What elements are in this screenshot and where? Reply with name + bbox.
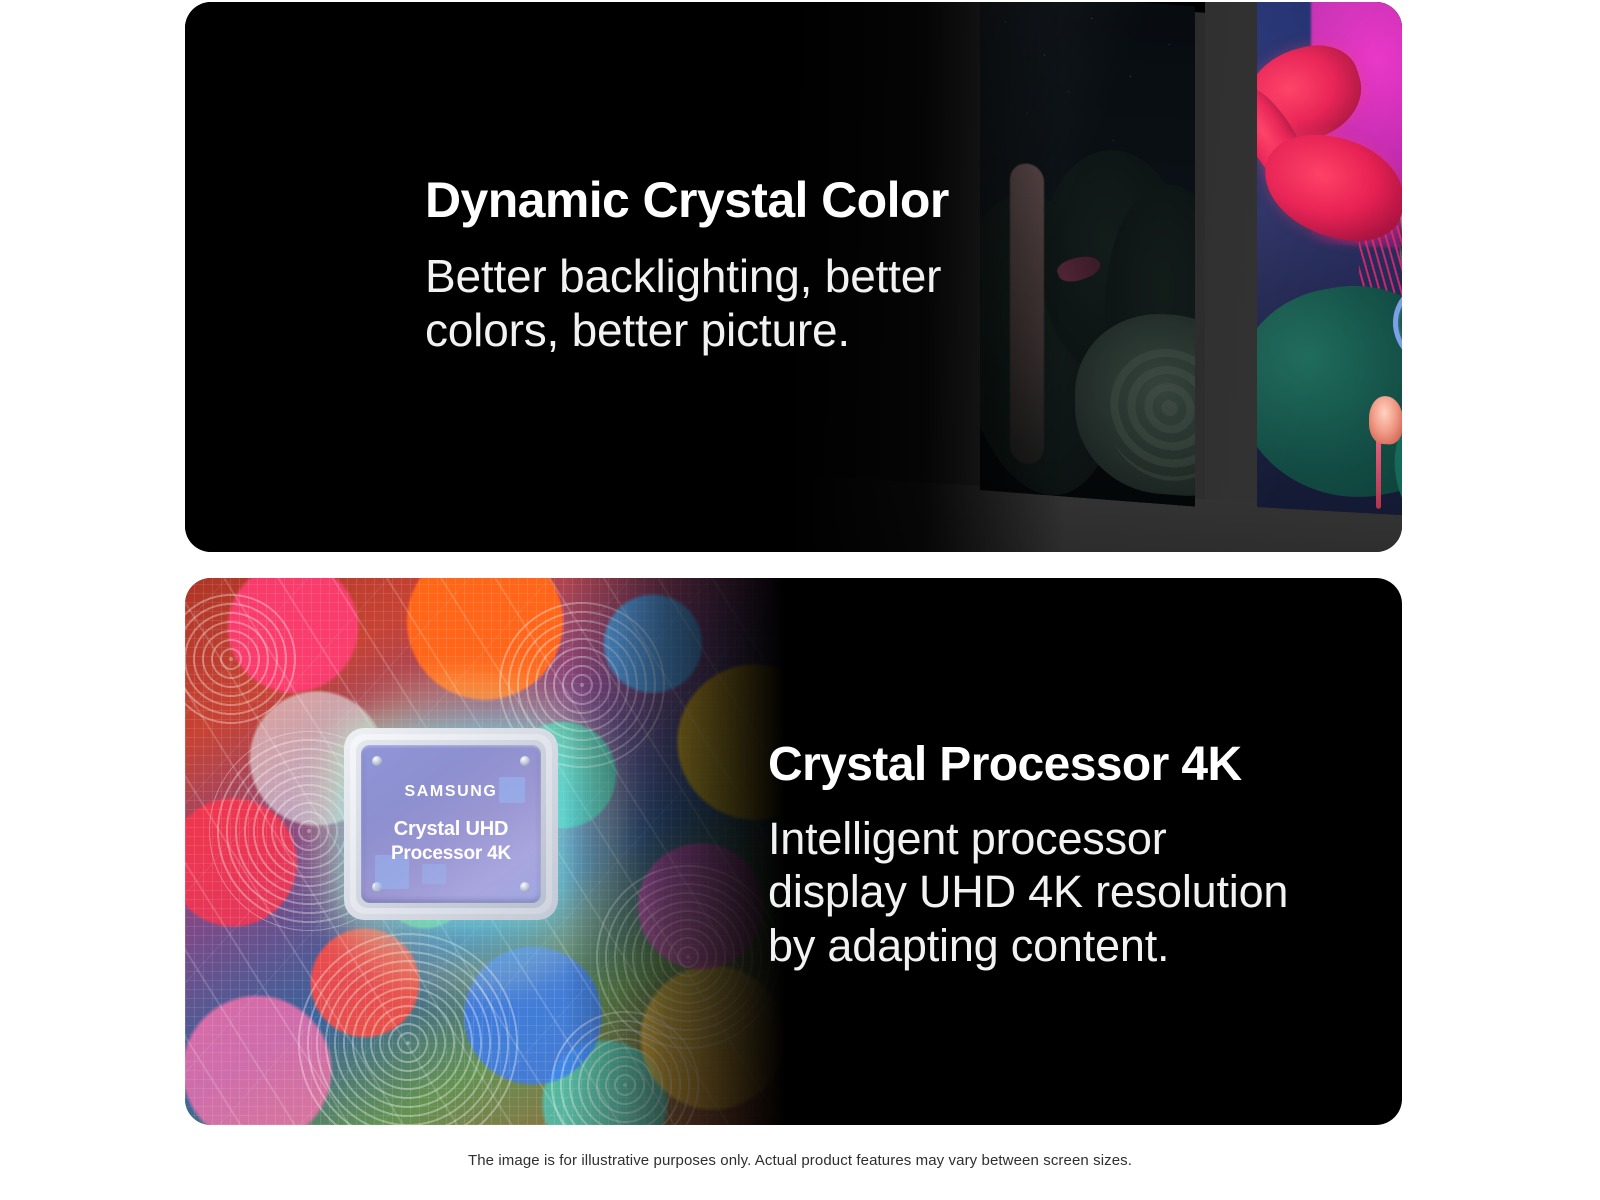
chip-brand-label: SAMSUNG [391,783,511,801]
panel-2-subcopy-line-1: Intelligent processor [768,812,1288,865]
panel-dynamic-crystal-color: Dynamic Crystal Color Better backlightin… [185,2,1402,552]
mosaic-to-black-gradient [565,578,785,1125]
pink-flower-bud [1369,396,1402,446]
chip-line-1: Crystal UHD [391,818,511,841]
flower-stem [1376,439,1381,509]
feature-banner: Dynamic Crystal Color Better backlightin… [0,0,1600,1200]
screw-icon [372,756,382,766]
screw-icon [372,882,382,892]
panel-1-subcopy-line-1: Better backlighting, better [425,249,949,303]
panel-1-headline: Dynamic Crystal Color [425,174,949,227]
panel-1-subcopy-line-2: colors, better picture. [425,303,949,357]
panel-1-copy: Dynamic Crystal Color Better backlightin… [425,174,949,357]
chip-die: SAMSUNG Crystal UHD Processor 4K [361,745,541,903]
panel-2-subcopy-line-2: display UHD 4K resolution [768,865,1288,918]
panel-2-subcopy: Intelligent processor display UHD 4K res… [768,812,1288,971]
tv-screen-right-vivid [1257,2,1402,526]
chip-label-group: SAMSUNG Crystal UHD Processor 4K [391,783,511,865]
screw-icon [520,882,530,892]
panel-2-copy: Crystal Processor 4K Intelligent process… [768,740,1288,972]
panel-2-subcopy-line-3: by adapting content. [768,919,1288,972]
chip-line-2: Processor 4K [391,843,511,865]
panel-1-subcopy: Better backlighting, better colors, bett… [425,249,949,358]
chip-contact-pad [422,864,446,884]
screw-icon [520,756,530,766]
disclaimer-text: The image is for illustrative purposes o… [0,1152,1600,1169]
panel-crystal-processor-4k: SAMSUNG Crystal UHD Processor 4K Crystal… [185,578,1402,1125]
crystal-processor-chip: SAMSUNG Crystal UHD Processor 4K [344,728,558,920]
panel-2-headline: Crystal Processor 4K [768,740,1288,790]
